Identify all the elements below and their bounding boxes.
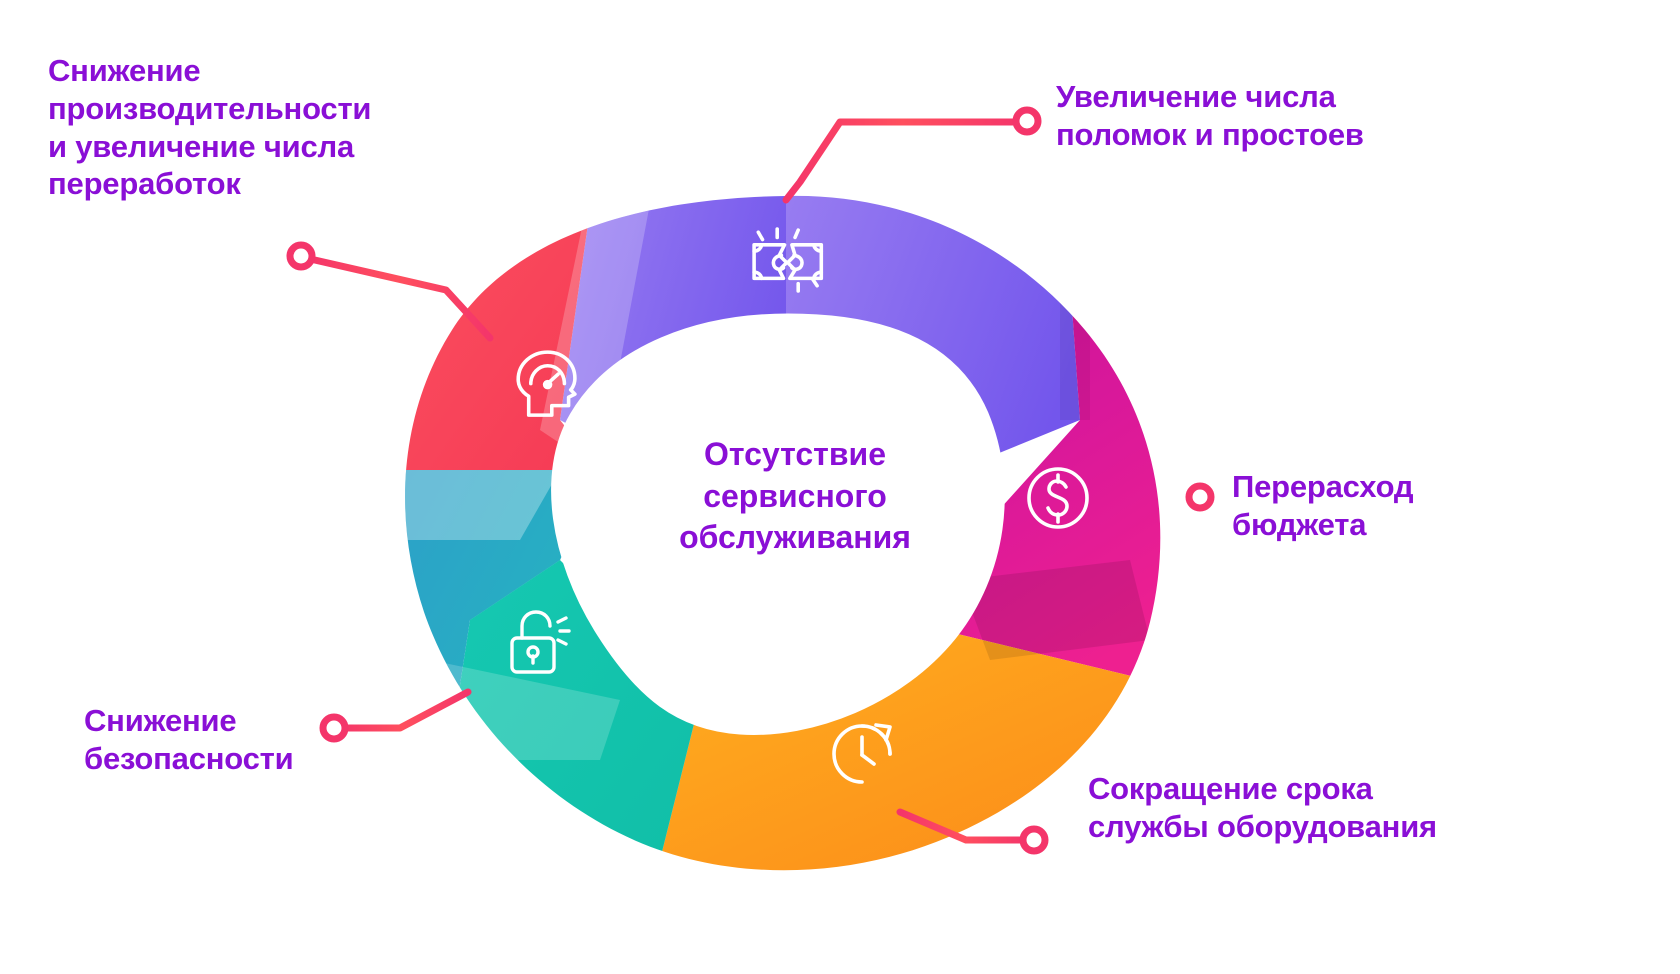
center-title: Отсутствие сервисного обслуживания [600,434,990,559]
label-security-decline[interactable]: Снижение безопасности [84,702,424,778]
label-budget-overrun[interactable]: Перерасход бюджета [1232,468,1562,544]
label-breakdowns[interactable]: Увеличение числа поломок и простоев [1056,78,1536,154]
dot-productivity[interactable] [290,245,312,267]
label-productivity-decline[interactable]: Снижение производительности и увеличение… [48,52,518,203]
connector-breakdowns [786,122,1020,200]
dot-breakdowns[interactable] [1016,110,1038,132]
label-equipment-lifespan[interactable]: Сокращение срока службы оборудования [1088,770,1588,846]
dot-budget[interactable] [1189,486,1211,508]
shadow-wedge-purple [1060,140,1090,420]
dot-lifespan[interactable] [1023,829,1045,851]
infographic-canvas: Снижение производительности и увеличение… [0,0,1680,974]
